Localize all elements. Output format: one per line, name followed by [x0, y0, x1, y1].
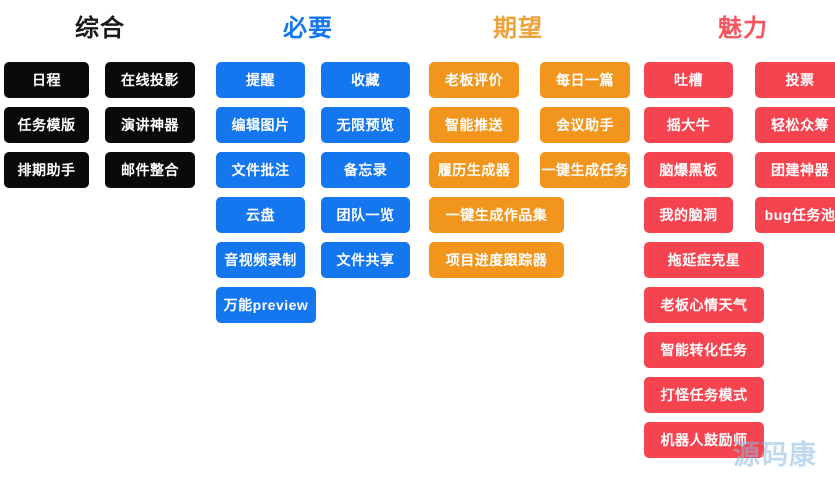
chip-attractive-9[interactable]: 老板心情天气 [644, 287, 764, 323]
chip-attractive-7[interactable]: bug任务池 [755, 197, 835, 233]
chip-expected-1[interactable]: 每日一篇 [540, 62, 630, 98]
chip-attractive-8[interactable]: 拖延症克星 [644, 242, 764, 278]
chip-comprehensive-3[interactable]: 演讲神器 [105, 107, 195, 143]
chip-comprehensive-0[interactable]: 日程 [4, 62, 89, 98]
chip-expected-2[interactable]: 智能推送 [429, 107, 519, 143]
chip-necessary-5[interactable]: 备忘录 [321, 152, 410, 188]
chip-necessary-9[interactable]: 文件共享 [321, 242, 410, 278]
chip-necessary-6[interactable]: 云盘 [216, 197, 305, 233]
chip-attractive-12[interactable]: 机器人鼓励师 [644, 422, 764, 458]
chip-attractive-6[interactable]: 我的脑洞 [644, 197, 733, 233]
chip-attractive-11[interactable]: 打怪任务模式 [644, 377, 764, 413]
chip-necessary-7[interactable]: 团队一览 [321, 197, 410, 233]
chip-comprehensive-5[interactable]: 邮件整合 [105, 152, 195, 188]
chip-expected-4[interactable]: 履历生成器 [429, 152, 519, 188]
chip-necessary-10[interactable]: 万能preview [216, 287, 316, 323]
chip-expected-5[interactable]: 一键生成任务 [540, 152, 630, 188]
chip-expected-3[interactable]: 会议助手 [540, 107, 630, 143]
chip-comprehensive-2[interactable]: 任务模版 [4, 107, 89, 143]
chip-attractive-1[interactable]: 投票 [755, 62, 835, 98]
chip-attractive-5[interactable]: 团建神器 [755, 152, 835, 188]
column-title-comprehensive: 综合 [20, 14, 180, 44]
chip-expected-6[interactable]: 一键生成作品集 [429, 197, 564, 233]
chip-attractive-0[interactable]: 吐槽 [644, 62, 733, 98]
chip-necessary-2[interactable]: 编辑图片 [216, 107, 305, 143]
column-title-attractive: 魅力 [663, 14, 823, 44]
chip-attractive-10[interactable]: 智能转化任务 [644, 332, 764, 368]
column-title-expected: 期望 [438, 14, 598, 44]
chip-necessary-8[interactable]: 音视频录制 [216, 242, 305, 278]
chip-expected-0[interactable]: 老板评价 [429, 62, 519, 98]
chip-attractive-3[interactable]: 轻松众筹 [755, 107, 835, 143]
chip-necessary-4[interactable]: 文件批注 [216, 152, 305, 188]
chip-comprehensive-4[interactable]: 排期助手 [4, 152, 89, 188]
chip-expected-7[interactable]: 项目进度跟踪器 [429, 242, 564, 278]
column-title-necessary: 必要 [228, 14, 388, 44]
chip-attractive-2[interactable]: 摇大牛 [644, 107, 733, 143]
chip-comprehensive-1[interactable]: 在线投影 [105, 62, 195, 98]
kano-board: 综合日程在线投影任务模版演讲神器排期助手邮件整合必要提醒收藏编辑图片无限预览文件… [0, 0, 835, 500]
chip-necessary-3[interactable]: 无限预览 [321, 107, 410, 143]
chip-necessary-1[interactable]: 收藏 [321, 62, 410, 98]
chip-necessary-0[interactable]: 提醒 [216, 62, 305, 98]
chip-attractive-4[interactable]: 脑爆黑板 [644, 152, 733, 188]
